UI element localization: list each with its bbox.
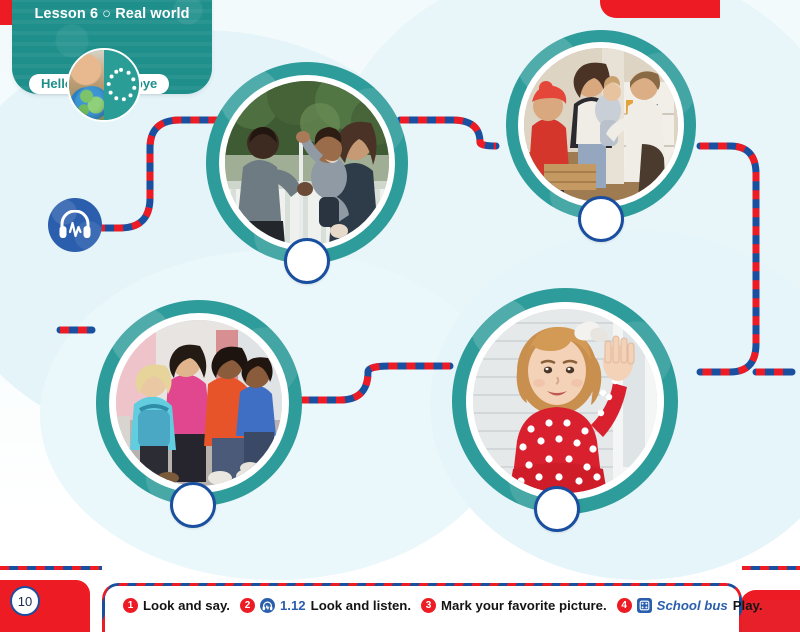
picture-2-image	[524, 48, 678, 202]
picture-2-checkbox[interactable]	[578, 196, 624, 242]
page-number: 10	[10, 586, 40, 616]
task-3-text: Mark your favorite picture.	[441, 598, 607, 613]
picture-3-image	[116, 320, 282, 486]
picture-2-photo[interactable]	[524, 48, 678, 202]
task-3-number: 3	[421, 598, 436, 613]
task-4-text: Play.	[733, 598, 763, 613]
picture-4-checkbox[interactable]	[534, 486, 580, 532]
picture-1[interactable]	[206, 62, 408, 264]
headphones-icon[interactable]	[260, 598, 275, 613]
picture-1-photo[interactable]	[225, 81, 389, 245]
picture-2[interactable]	[506, 30, 696, 220]
picture-3[interactable]	[96, 300, 302, 506]
task-list: 1 Look and say. 2 1.12 Look and listen. …	[123, 598, 768, 613]
corner-accent-top-right	[600, 0, 720, 18]
picture-3-checkbox[interactable]	[170, 482, 216, 528]
task-2-number: 2	[240, 598, 255, 613]
task-4-game-name: School bus	[657, 598, 728, 613]
board-game-icon[interactable]	[637, 598, 652, 613]
board-game-glyph	[639, 600, 650, 611]
picture-1-image	[225, 81, 389, 245]
headphones-waveform-icon[interactable]	[48, 198, 102, 252]
picture-4-image	[473, 309, 657, 493]
star-ring-icon	[104, 50, 139, 120]
footer-dash-left	[0, 566, 102, 570]
picture-1-checkbox[interactable]	[284, 238, 330, 284]
picture-4[interactable]	[452, 288, 678, 514]
boy-with-globe-badge	[67, 48, 141, 122]
picture-4-photo[interactable]	[473, 309, 657, 493]
headphones-glyph	[58, 210, 92, 240]
task-1-text: Look and say.	[143, 598, 230, 613]
picture-3-photo[interactable]	[116, 320, 282, 486]
task-2-text: Look and listen.	[311, 598, 411, 613]
task-4-number: 4	[617, 598, 632, 613]
lesson-title: Lesson 6 ○ Real world	[12, 6, 212, 22]
page-bottom-margin	[0, 632, 800, 639]
headphones-glyph-small	[262, 601, 273, 611]
footer-dash-right	[742, 566, 800, 570]
task-1-number: 1	[123, 598, 138, 613]
textbook-page: Lesson 6 ○ Real world Hello and goodbye	[0, 0, 800, 639]
task-2-track: 1.12	[280, 598, 306, 613]
